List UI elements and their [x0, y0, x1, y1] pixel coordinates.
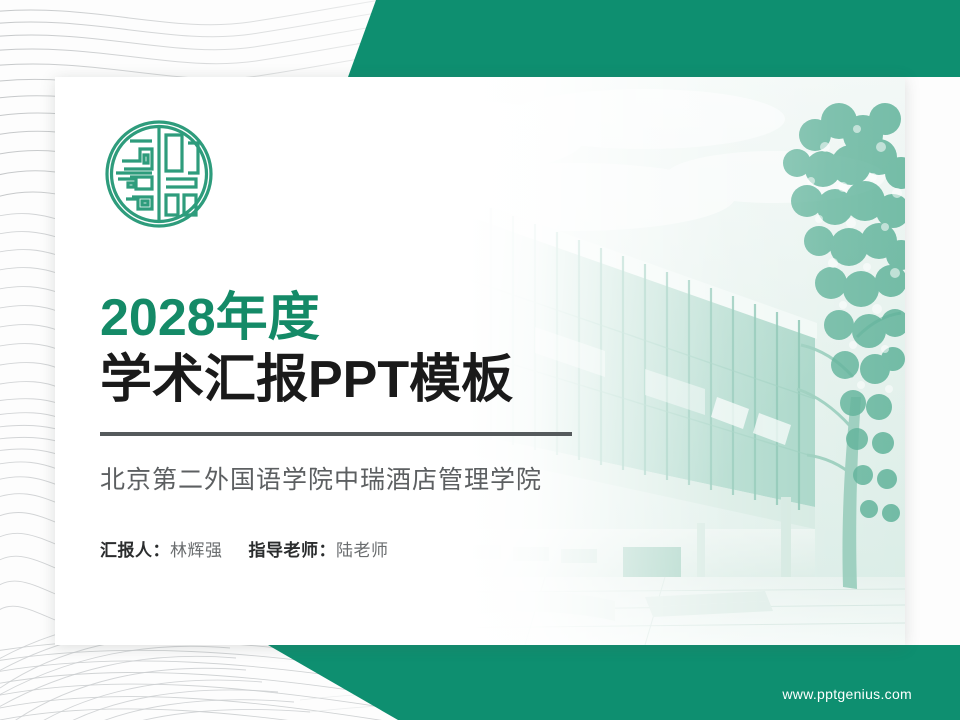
reporter-label: 汇报人：: [100, 541, 170, 560]
content-card: 2028年度 学术汇报PPT模板 北京第二外国语学院中瑞酒店管理学院 汇报人：林…: [55, 77, 905, 645]
footer-website-url[interactable]: www.pptgenius.com: [782, 686, 912, 702]
institution-subtitle: 北京第二外国语学院中瑞酒店管理学院: [100, 460, 640, 496]
title-divider: [100, 432, 572, 436]
title-main: 学术汇报PPT模板: [100, 354, 640, 406]
university-seal-logo: [100, 115, 218, 233]
reporter-name: 林辉强: [170, 541, 223, 560]
title-year: 2028年度: [100, 292, 640, 344]
advisor-label: 指导老师：: [249, 541, 337, 560]
presentation-slide: 2028年度 学术汇报PPT模板 北京第二外国语学院中瑞酒店管理学院 汇报人：林…: [0, 0, 960, 720]
title-text-block: 2028年度 学术汇报PPT模板 北京第二外国语学院中瑞酒店管理学院 汇报人：林…: [100, 292, 640, 561]
advisor-name: 陆老师: [336, 541, 389, 560]
presenter-info-row: 汇报人：林辉强指导老师：陆老师: [100, 536, 640, 561]
